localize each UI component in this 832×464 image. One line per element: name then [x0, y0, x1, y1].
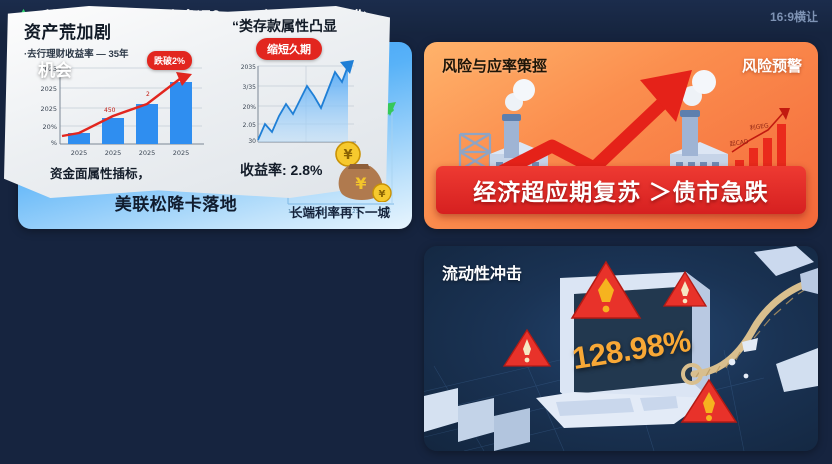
card-risk-label: 风险与应率策挳 — [442, 55, 547, 76]
svg-text:2025: 2025 — [173, 149, 190, 157]
svg-text:2025: 2025 — [71, 149, 88, 157]
bars — [68, 82, 192, 144]
risk-alert-label: 风险预警 — [742, 55, 802, 76]
infographic-canvas: ¥ 利率债“慢牛”还能走多远？——金融数据可视化 16:9横让 机会 美联松降卡… — [0, 0, 832, 464]
svg-text:起CAD: 起CAD — [729, 137, 749, 148]
svg-text:20%: 20% — [243, 104, 257, 111]
badge-shorten-duration: 缩短久期 — [256, 38, 322, 60]
badge-break-below-2pct: 跌破2% — [147, 51, 192, 70]
asset-title: 资产荒加剧 — [24, 18, 112, 43]
svg-text:%: % — [51, 139, 57, 147]
card-opportunity-label: 机会 — [38, 56, 72, 81]
deposit-attribute-title: “类存款属性凸显 — [232, 16, 337, 36]
svg-text:450: 450 — [104, 107, 116, 114]
risk-banner: 经济超应期复苏 ＞债市急跌 — [436, 166, 806, 214]
svg-text:¥: ¥ — [379, 189, 386, 200]
svg-text:2025: 2025 — [139, 149, 156, 157]
debris-icon — [729, 246, 818, 392]
svg-text:2035: 2035 — [241, 64, 256, 71]
warning-triangle-3 — [504, 330, 550, 366]
risk-banner-text: 经济超应期复苏 ＞债市急跌 — [473, 173, 768, 207]
opportunity-caption: 长端利率再下一城 — [276, 202, 404, 221]
svg-text:20%: 20% — [43, 123, 57, 131]
svg-text:30: 30 — [248, 138, 256, 145]
svg-text:¥: ¥ — [343, 148, 352, 163]
svg-text:2025: 2025 — [40, 105, 57, 113]
svg-text:3/35: 3/35 — [243, 84, 257, 91]
steps-icon — [424, 388, 530, 451]
svg-text:2025: 2025 — [40, 85, 57, 93]
card-liquidity-shock[interactable]: 流动性冲击 — [424, 246, 818, 451]
asset-caption: 资金面属性插标， — [50, 163, 150, 182]
card-asset-shortage[interactable]: 资产荒加剧 ·去行理财收益率 — 35年 20232025 2025 — [0, 0, 394, 205]
svg-text:¥: ¥ — [355, 174, 366, 193]
svg-text:2.05: 2.05 — [243, 122, 257, 129]
card-risk[interactable]: 风险与应率策挳 风险预警 — [424, 42, 818, 229]
svg-text:2025: 2025 — [105, 149, 122, 157]
gold-money-bag-icon: ¥ ¥ ¥ — [330, 140, 392, 202]
yield-rate-text: 收益率: 2.8% — [240, 160, 322, 180]
card-liquidity-label: 流动性冲击 — [442, 260, 522, 284]
aspect-ratio-label: 16:9横让 — [770, 8, 818, 25]
svg-text:2: 2 — [146, 91, 150, 98]
